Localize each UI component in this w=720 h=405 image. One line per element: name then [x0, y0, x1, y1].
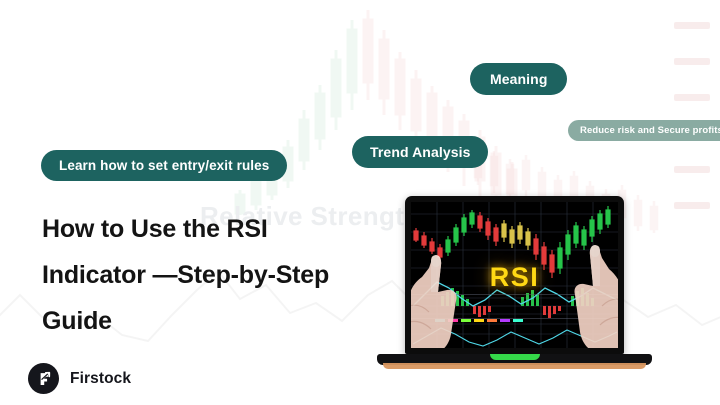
firstock-arrow-icon — [28, 363, 59, 394]
background-price-axis-labels — [660, 0, 720, 230]
chart-legend-swatches — [435, 319, 523, 322]
pill-meaning[interactable]: Meaning — [470, 63, 567, 95]
poster-canvas: Relative Strength Learn how to set entry… — [0, 0, 720, 405]
laptop-trackpad-notch — [490, 354, 540, 360]
page-title: How to Use the RSI Indicator —Step-by-St… — [42, 206, 372, 344]
page-title-line-3: Guide — [42, 298, 372, 344]
page-title-line-1: How to Use the RSI — [42, 206, 372, 252]
pill-trend-analysis[interactable]: Trend Analysis — [352, 136, 488, 168]
background-candlestick-chart — [230, 0, 720, 220]
brand-logo[interactable]: Firstock — [28, 363, 131, 394]
laptop-base-lip — [383, 363, 646, 369]
laptop-lid: RSI — [405, 196, 624, 354]
pill-reduce-risk-secure-profits[interactable]: Reduce risk and Secure profits — [568, 120, 720, 141]
page-title-line-2: Indicator —Step-by-Step — [42, 252, 372, 298]
laptop-screen: RSI — [411, 202, 618, 348]
trading-chart-graphic — [411, 202, 618, 348]
pill-learn-entry-exit-rules[interactable]: Learn how to set entry/exit rules — [41, 150, 287, 181]
brand-name: Firstock — [70, 370, 131, 388]
laptop-illustration: RSI — [377, 196, 652, 371]
